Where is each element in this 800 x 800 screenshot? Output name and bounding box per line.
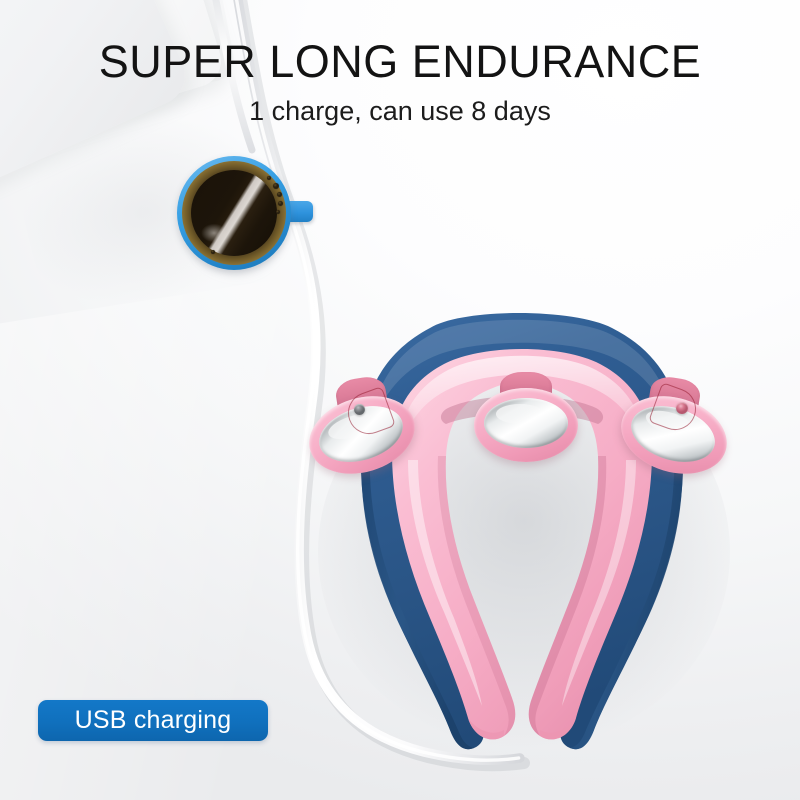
electrode-center-chrome — [484, 398, 568, 448]
neck-massager — [312, 300, 732, 765]
page-title: SUPER LONG ENDURANCE — [0, 36, 800, 88]
electrode-pads — [312, 300, 732, 765]
coffee-cup — [177, 156, 291, 270]
hinge-right-button[interactable] — [676, 402, 688, 414]
hinge-left-screw — [354, 404, 365, 415]
hinge-left-seam — [342, 386, 396, 440]
coffee-cup-rim — [177, 156, 291, 270]
hinge-right[interactable] — [648, 384, 706, 436]
hinge-right-seam — [648, 382, 702, 436]
electrode-center[interactable] — [464, 372, 588, 468]
usb-charging-badge: USB charging — [38, 700, 268, 741]
usb-charging-badge-label: USB charging — [75, 706, 232, 735]
hinge-left[interactable] — [340, 388, 398, 440]
page-subtitle: 1 charge, can use 8 days — [0, 96, 800, 127]
coffee-bubbles — [177, 156, 291, 270]
product-marketing-image: SUPER LONG ENDURANCE 1 charge, can use 8… — [0, 0, 800, 800]
